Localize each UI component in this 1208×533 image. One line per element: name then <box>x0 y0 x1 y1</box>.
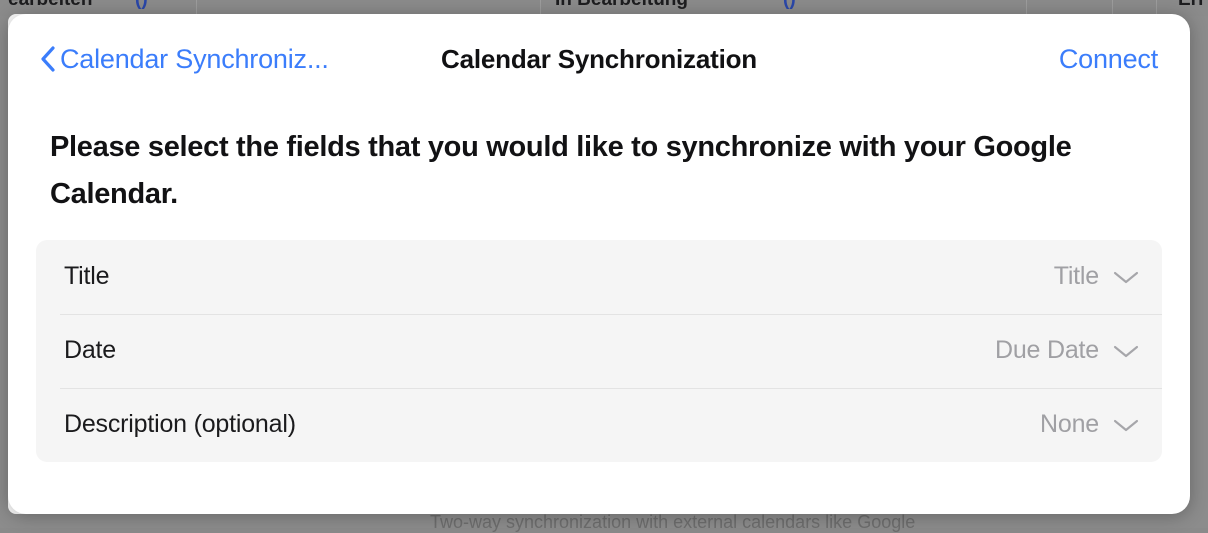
background-feature-description: Two-way synchronization with external ca… <box>430 512 915 533</box>
field-row-title[interactable]: Title Title <box>36 240 1162 314</box>
field-label: Date <box>64 336 116 365</box>
field-row-date[interactable]: Date Due Date <box>36 314 1162 388</box>
field-selector-title[interactable]: Title <box>1054 262 1140 291</box>
modal-body: Please select the fields that you would … <box>8 104 1190 462</box>
connect-button[interactable]: Connect <box>1059 14 1158 104</box>
board-column-count: () <box>783 0 796 11</box>
board-column-title: In Bearbeitung <box>555 0 688 11</box>
field-row-description[interactable]: Description (optional) None <box>36 388 1162 462</box>
board-column-title: Erl <box>1178 0 1203 11</box>
chevron-down-icon <box>1112 343 1140 359</box>
back-button-label: Calendar Synchroniz... <box>60 44 329 75</box>
board-column-count: () <box>135 0 148 11</box>
intro-text: Please select the fields that you would … <box>36 104 1096 236</box>
field-selector-date[interactable]: Due Date <box>995 336 1140 365</box>
board-column-title: earbeiten <box>8 0 92 11</box>
field-label: Title <box>64 262 109 291</box>
calendar-sync-modal: Calendar Synchroniz... Calendar Synchron… <box>8 14 1190 514</box>
field-selector-description[interactable]: None <box>1040 410 1140 439</box>
field-value: None <box>1040 410 1099 439</box>
chevron-down-icon <box>1112 269 1140 285</box>
field-mapping-list: Title Title Date Due Date De <box>36 240 1162 462</box>
field-value: Title <box>1054 262 1099 291</box>
back-button[interactable]: Calendar Synchroniz... <box>40 14 329 104</box>
field-label: Description (optional) <box>64 410 296 439</box>
chevron-down-icon <box>1112 417 1140 433</box>
chevron-left-icon <box>40 45 56 73</box>
field-value: Due Date <box>995 336 1099 365</box>
modal-navbar: Calendar Synchroniz... Calendar Synchron… <box>8 14 1190 104</box>
